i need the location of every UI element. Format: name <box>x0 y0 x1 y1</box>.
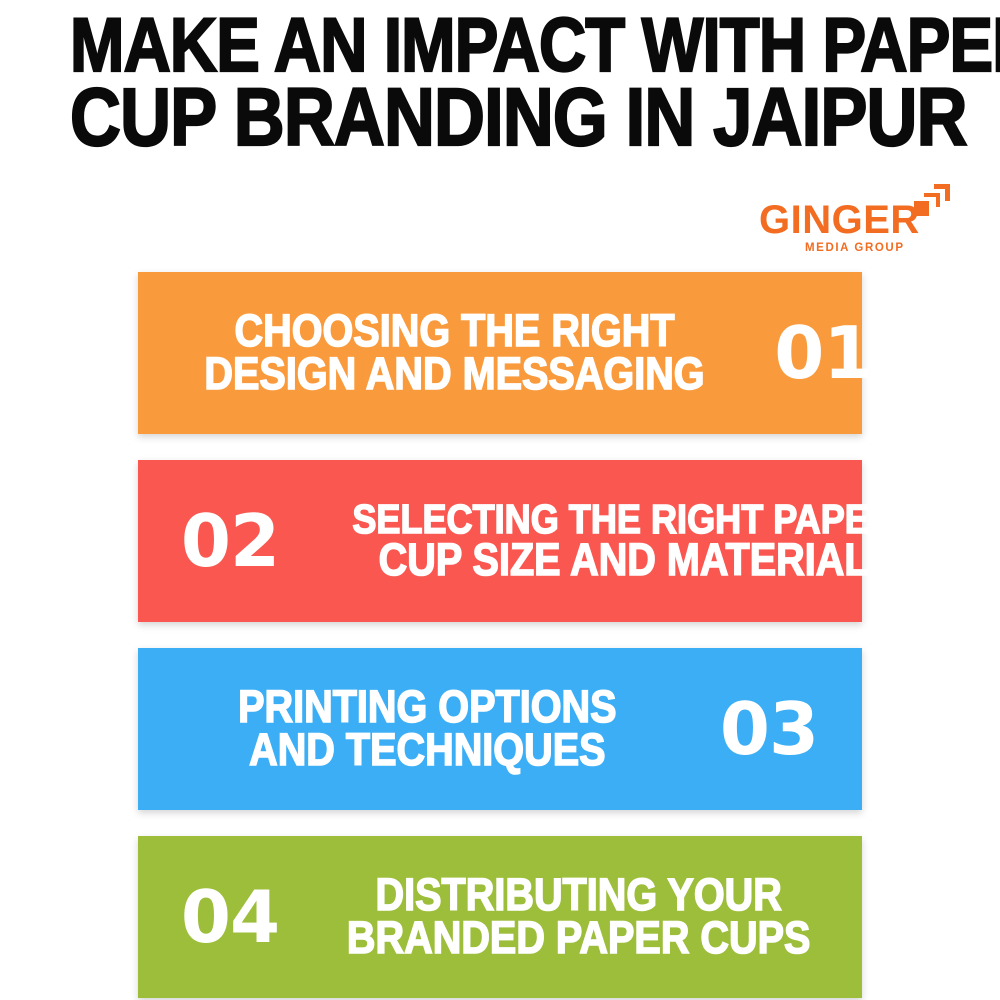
step-label-4-line-2: BRANDED PAPER CUPS <box>347 917 811 960</box>
nested-squares-arrow-icon <box>912 182 952 220</box>
step-label-2: SELECTING THE RIGHT PAPER CUP SIZE AND M… <box>347 500 919 582</box>
step-number-3: 03 <box>692 693 862 765</box>
step-label-1-line-2: DESIGN AND MESSAGING <box>204 353 704 396</box>
step-label-4: DISTRIBUTING YOUR BRANDED PAPER CUPS <box>342 874 835 960</box>
brand-logo[interactable]: GINGER MEDIA GROUP <box>759 196 944 266</box>
page-title-line-2: CUP BRANDING IN JAIPUR <box>70 84 930 153</box>
step-label-1-line-1: CHOOSING THE RIGHT <box>204 310 704 353</box>
step-label-1: CHOOSING THE RIGHT DESIGN AND MESSAGING <box>175 310 710 396</box>
step-bar-4[interactable]: 04 DISTRIBUTING YOUR BRANDED PAPER CUPS <box>138 836 862 998</box>
brand-logo-wordmark: GINGER <box>759 200 920 240</box>
step-bar-1[interactable]: CHOOSING THE RIGHT DESIGN AND MESSAGING … <box>138 272 862 434</box>
step-label-3-line-1: PRINTING OPTIONS <box>201 686 653 729</box>
step-number-1: 01 <box>746 317 916 389</box>
step-label-2-line-2: CUP SIZE AND MATERIAL <box>352 539 895 582</box>
step-label-3: PRINTING OPTIONS AND TECHNIQUES <box>171 686 659 772</box>
step-number-4: 04 <box>138 881 308 953</box>
page-title-line-1: MAKE AN IMPACT WITH PAPER <box>70 14 930 78</box>
step-label-4-line-1: DISTRIBUTING YOUR <box>347 874 811 917</box>
step-bar-3[interactable]: PRINTING OPTIONS AND TECHNIQUES 03 <box>138 648 862 810</box>
step-number-2: 02 <box>138 505 308 577</box>
step-bar-2[interactable]: 02 SELECTING THE RIGHT PAPER CUP SIZE AN… <box>138 460 862 622</box>
step-label-3-line-2: AND TECHNIQUES <box>201 729 653 772</box>
brand-logo-tagline: MEDIA GROUP <box>805 242 905 254</box>
page-title: MAKE AN IMPACT WITH PAPER CUP BRANDING I… <box>0 14 1000 153</box>
steps-list: CHOOSING THE RIGHT DESIGN AND MESSAGING … <box>138 272 862 998</box>
